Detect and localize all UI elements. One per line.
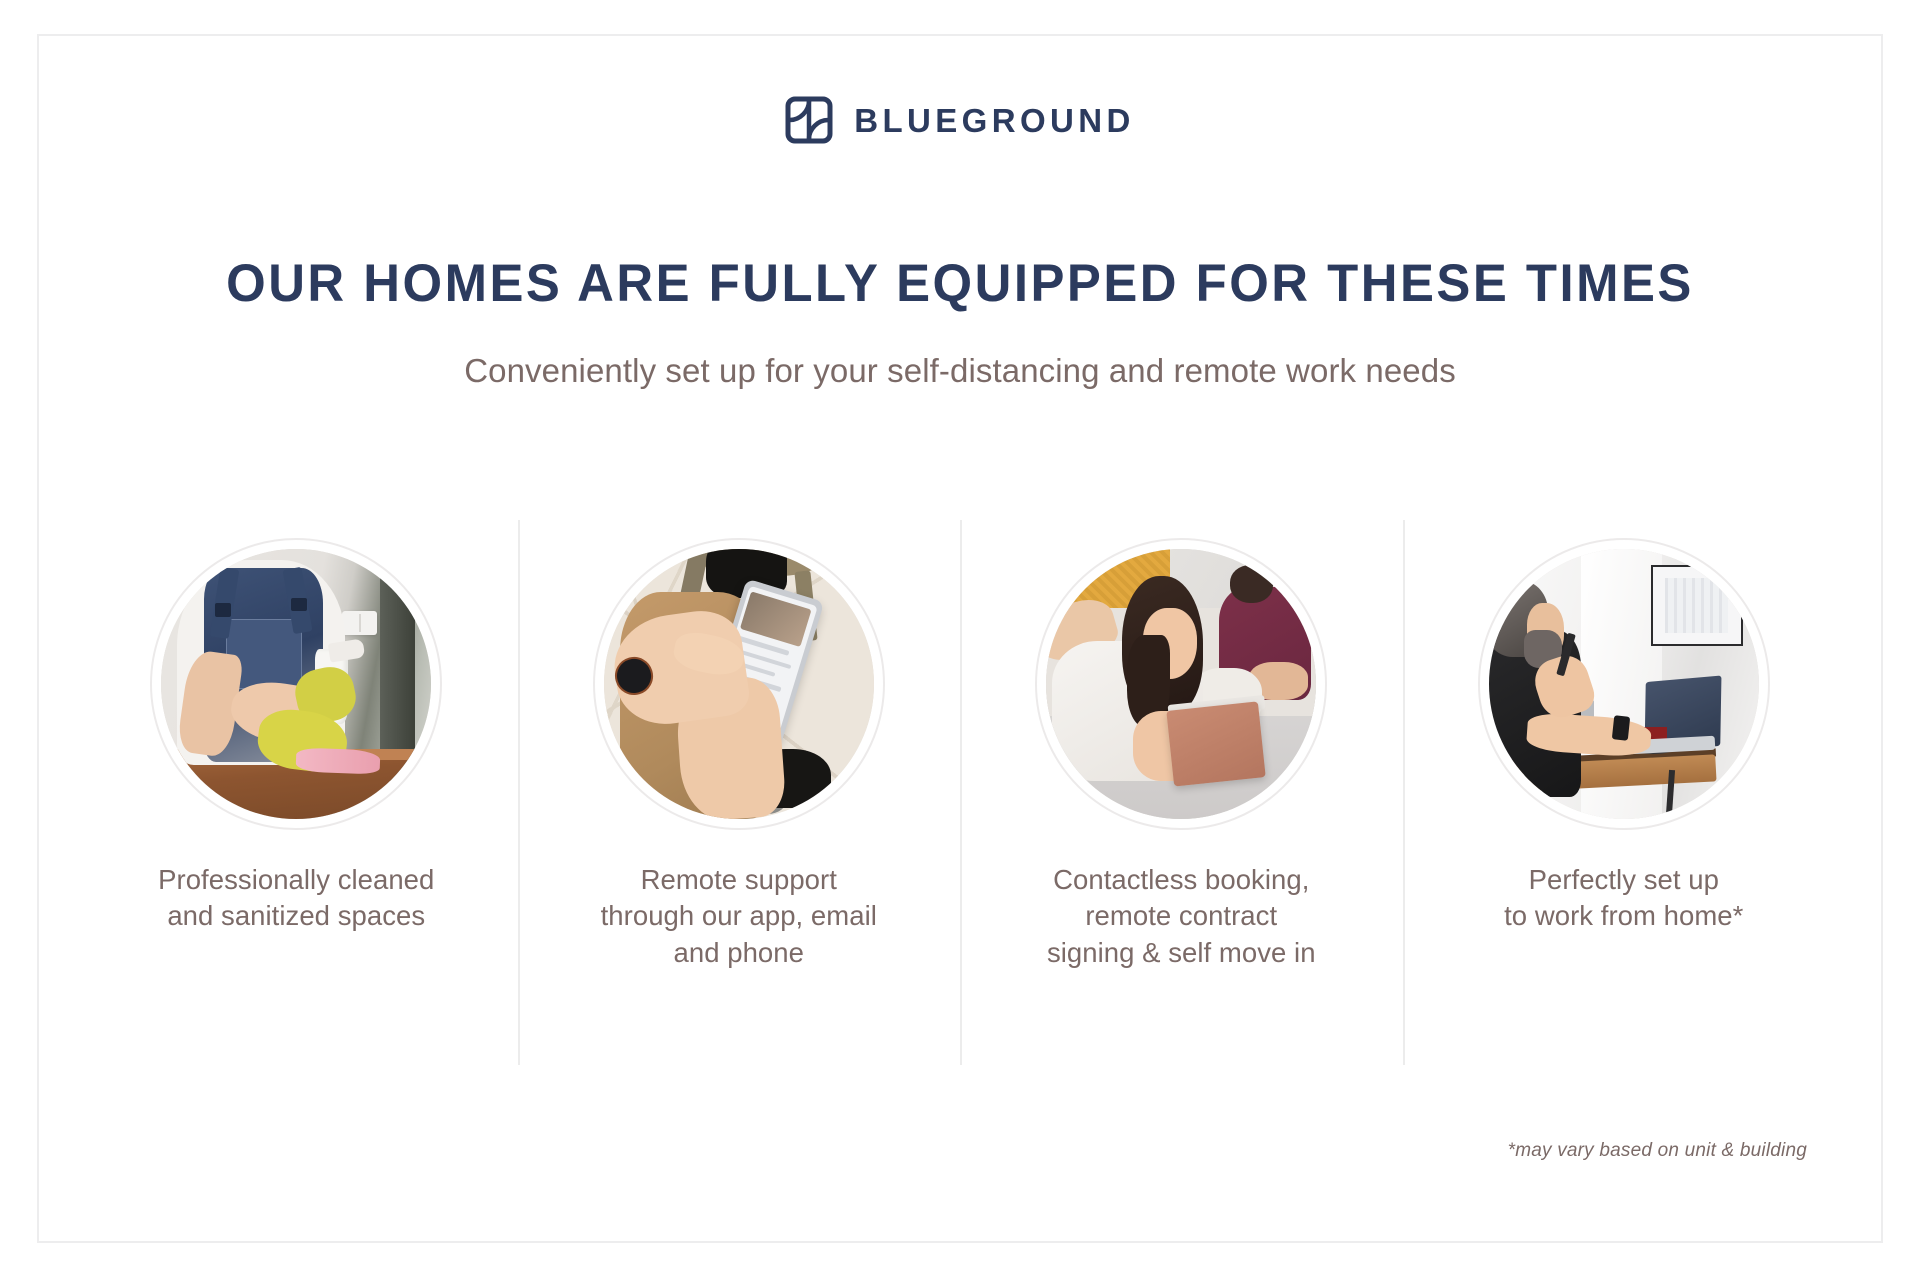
feature-image-ring (593, 538, 885, 830)
feature-caption: Remote support through our app, email an… (601, 862, 877, 971)
feature-item-cleaning: Professionally cleaned and sanitized spa… (75, 520, 518, 1065)
feature-row: Professionally cleaned and sanitized spa… (75, 520, 1845, 1065)
cleaning-photo (161, 549, 431, 819)
feature-caption: Contactless booking, remote contract sig… (1047, 862, 1316, 971)
brand-lockup: BLUEGROUND (0, 96, 1920, 144)
page-subtitle: Conveniently set up for your self-distan… (0, 350, 1920, 391)
feature-image-ring (1035, 538, 1327, 830)
blueground-square-logo-icon (785, 96, 833, 144)
work-from-home-photo (1489, 549, 1759, 819)
feature-item-remote-support: Remote support through our app, email an… (518, 520, 961, 1065)
feature-image-ring (1478, 538, 1770, 830)
poster-canvas: BLUEGROUND OUR HOMES ARE FULLY EQUIPPED … (0, 0, 1920, 1280)
brand-name: BLUEGROUND (854, 104, 1135, 137)
page-title: OUR HOMES ARE FULLY EQUIPPED FOR THESE T… (38, 255, 1881, 312)
feature-caption: Professionally cleaned and sanitized spa… (158, 862, 434, 935)
feature-image-ring (150, 538, 442, 830)
footnote-disclaimer: *may vary based on unit & building (1508, 1140, 1807, 1162)
feature-item-contactless-booking: Contactless booking, remote contract sig… (960, 520, 1403, 1065)
mobile-app-photo (604, 549, 874, 819)
feature-caption: Perfectly set up to work from home* (1504, 862, 1743, 935)
feature-item-work-from-home: Perfectly set up to work from home* (1403, 520, 1846, 1065)
contactless-booking-photo (1046, 549, 1316, 819)
